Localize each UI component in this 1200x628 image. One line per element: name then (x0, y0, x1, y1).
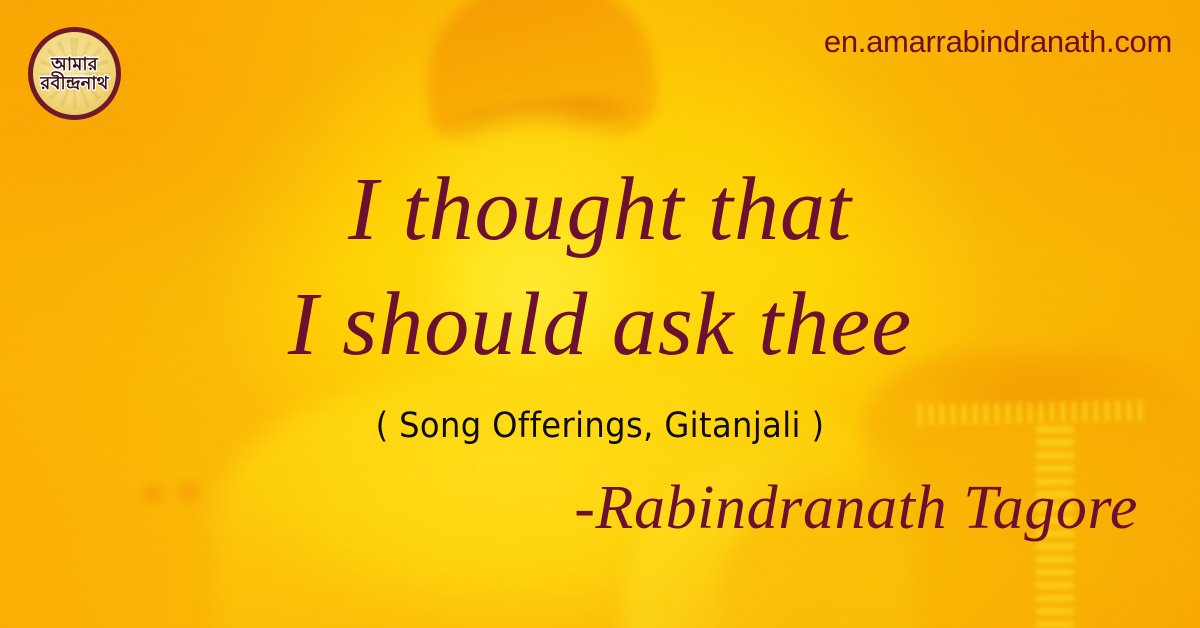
quote-card: আমার রবীন্দ্রনাথ en.amarrabindranath.com… (0, 0, 1200, 628)
quote-author: -Rabindranath Tagore (574, 473, 1138, 544)
site-url[interactable]: en.amarrabindranath.com (824, 24, 1172, 60)
quote-text: I thought that I should ask thee (0, 152, 1200, 382)
logo-text-line-1: আমার (40, 55, 108, 73)
quote-line-1: I thought that (0, 152, 1200, 267)
quote-source: ( Song Offerings, Gitanjali ) (48, 406, 1152, 446)
logo-text-line-2: রবীন্দ্রনাথ (40, 74, 108, 92)
logo-bengali-text: আমার রবীন্দ্রনাথ (40, 55, 108, 92)
quote-line-2: I should ask thee (0, 267, 1200, 382)
brand-logo-badge[interactable]: আমার রবীন্দ্রনাথ (28, 27, 121, 120)
